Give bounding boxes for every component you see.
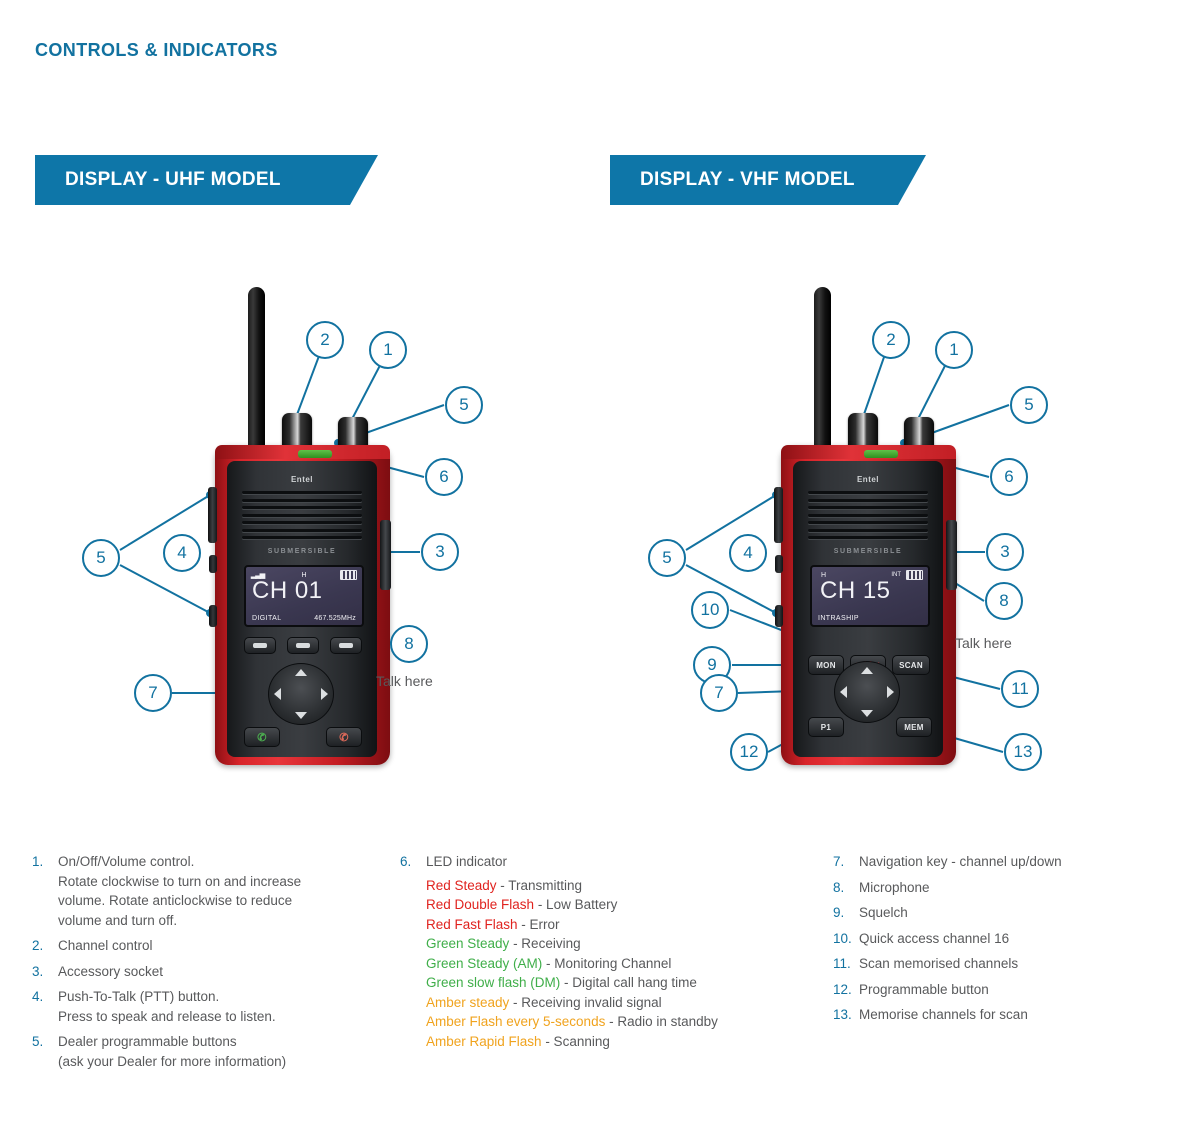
led-state-label: Amber steady <box>426 995 509 1010</box>
callout-uhf-6: 6 <box>425 458 463 496</box>
legend-item-8: 8.Microphone <box>833 878 1163 898</box>
figure-vhf-radio: Entel SUBMERSIBLE H INT CH 15 INTRASHIP … <box>600 265 1160 825</box>
vhf-antenna <box>814 287 831 457</box>
callout-uhf-8: 8 <box>390 625 428 663</box>
legend-text: LED indicator <box>426 852 800 872</box>
callout-uhf-5-right: 5 <box>445 386 483 424</box>
chevron-down-icon <box>295 712 307 719</box>
vhf-submersible-label: SUBMERSIBLE <box>793 548 943 555</box>
legend-number: 13. <box>833 1005 859 1025</box>
callout-vhf-5-left: 5 <box>648 539 686 577</box>
callout-vhf-5-right: 5 <box>1010 386 1048 424</box>
led-indicator-list: Red Steady - TransmittingRed Double Flas… <box>400 876 800 1052</box>
section-banner-uhf: DISPLAY - UHF MODEL <box>35 155 350 205</box>
led-indicator-row: Green Steady (AM) - Monitoring Channel <box>426 954 800 974</box>
callout-vhf-7: 7 <box>700 674 738 712</box>
led-indicator-row: Red Fast Flash - Error <box>426 915 800 935</box>
legend-number: 10. <box>833 929 859 949</box>
banner-label-uhf: DISPLAY - UHF MODEL <box>35 169 281 191</box>
vhf-int-label: INT <box>891 572 901 578</box>
legend-text: Accessory socket <box>58 962 362 982</box>
legend-item-6: 6. LED indicator <box>400 852 800 872</box>
led-description: - Error <box>518 917 560 932</box>
legend-number: 8. <box>833 878 859 898</box>
callout-vhf-11: 11 <box>1001 670 1039 708</box>
figure-uhf-radio: Entel SUBMERSIBLE ▂▃▅ H CH 01 DIGITAL 46… <box>20 265 540 825</box>
vhf-talk-here-label: Talk here <box>955 635 1012 651</box>
legend-line: volume and turn off. <box>58 911 362 931</box>
led-description: - Monitoring Channel <box>542 956 671 971</box>
legend-item-7: 7.Navigation key - channel up/down <box>833 852 1163 872</box>
section-banner-vhf: DISPLAY - VHF MODEL <box>610 155 898 205</box>
led-indicator-row: Red Steady - Transmitting <box>426 876 800 896</box>
uhf-mode-label: DIGITAL <box>252 615 282 622</box>
uhf-programmable-side-button-1[interactable] <box>209 555 217 573</box>
legend-line: Accessory socket <box>58 962 362 982</box>
vhf-display-screen: H INT CH 15 INTRASHIP <box>810 565 930 627</box>
callout-uhf-4: 4 <box>163 534 201 572</box>
callout-vhf-1: 1 <box>935 331 973 369</box>
legend-text: Push-To-Talk (PTT) button. Press to spea… <box>58 987 362 1026</box>
uhf-soft-key-right[interactable] <box>330 637 362 654</box>
led-description: - Radio in standby <box>605 1014 718 1029</box>
led-description: - Receiving invalid signal <box>509 995 661 1010</box>
legend-text: Programmable button <box>859 980 1163 1000</box>
battery-icon <box>906 570 923 580</box>
uhf-navigation-key[interactable] <box>268 663 334 725</box>
legend-column-2: 6. LED indicator Red Steady - Transmitti… <box>400 852 800 1051</box>
uhf-channel-number: CH 01 <box>252 579 323 603</box>
legend-item-5: 5. Dealer programmable buttons (ask your… <box>32 1032 362 1071</box>
led-indicator-row: Red Double Flash - Low Battery <box>426 895 800 915</box>
vhf-monitor-key[interactable]: MON <box>808 655 844 675</box>
led-description: - Scanning <box>542 1034 610 1049</box>
chevron-right-icon <box>887 686 894 698</box>
vhf-green-led-indicator <box>864 450 898 458</box>
page-title: CONTROLS & INDICATORS <box>35 40 278 61</box>
uhf-accessory-socket[interactable] <box>380 520 391 590</box>
legend-item-4: 4. Push-To-Talk (PTT) button. Press to s… <box>32 987 362 1026</box>
led-state-label: Red Double Flash <box>426 897 534 912</box>
led-description: - Low Battery <box>534 897 617 912</box>
legend-number: 11. <box>833 954 859 974</box>
legend-line: On/Off/Volume control. <box>58 852 362 872</box>
led-state-label: Green slow flash (DM) <box>426 975 560 990</box>
legend-number: 9. <box>833 903 859 923</box>
legend-item-13: 13.Memorise channels for scan <box>833 1005 1163 1025</box>
led-indicator-row: Green slow flash (DM) - Digital call han… <box>426 973 800 993</box>
battery-icon <box>340 570 357 580</box>
banner-tail-uhf <box>350 155 378 205</box>
led-state-label: Amber Rapid Flash <box>426 1034 542 1049</box>
led-state-label: Green Steady <box>426 936 509 951</box>
callout-vhf-10: 10 <box>691 591 729 629</box>
vhf-speaker-grille <box>808 491 928 539</box>
legend-item-12: 12.Programmable button <box>833 980 1163 1000</box>
legend-text: Memorise channels for scan <box>859 1005 1163 1025</box>
uhf-programmable-side-button-2[interactable] <box>209 605 217 627</box>
uhf-submersible-label: SUBMERSIBLE <box>227 548 377 555</box>
banner-tail-vhf <box>898 155 926 205</box>
vhf-accessory-socket[interactable] <box>946 520 957 590</box>
legend-item-1: 1. On/Off/Volume control. Rotate clockwi… <box>32 852 362 930</box>
led-indicator-row: Amber Flash every 5-seconds - Radio in s… <box>426 1012 800 1032</box>
legend-text: Microphone <box>859 878 1163 898</box>
spacer <box>833 1027 1163 1031</box>
page-root: CONTROLS & INDICATORS DISPLAY - UHF MODE… <box>0 0 1178 1122</box>
legend-column-3: 7.Navigation key - channel up/down8.Micr… <box>833 852 1163 1031</box>
uhf-call-key[interactable]: ✆ <box>244 727 280 747</box>
led-indicator-row: Amber steady - Receiving invalid signal <box>426 993 800 1013</box>
legend-number: 4. <box>32 987 58 1026</box>
uhf-hangup-key[interactable]: ✆ <box>326 727 362 747</box>
vhf-ptt-button[interactable] <box>774 487 783 543</box>
legend-item-2: 2. Channel control <box>32 936 362 956</box>
legend-item-11: 11.Scan memorised channels <box>833 954 1163 974</box>
legend-item-9: 9.Squelch <box>833 903 1163 923</box>
led-description: - Transmitting <box>497 878 583 893</box>
led-state-label: Amber Flash every 5-seconds <box>426 1014 605 1029</box>
legend-text: Squelch <box>859 903 1163 923</box>
led-indicator-row: Green Steady - Receiving <box>426 934 800 954</box>
legend-column-1: 1. On/Off/Volume control. Rotate clockwi… <box>32 852 362 1073</box>
callout-vhf-12: 12 <box>730 733 768 771</box>
callout-vhf-2: 2 <box>872 321 910 359</box>
uhf-display-screen: ▂▃▅ H CH 01 DIGITAL 467.525MHz <box>244 565 364 627</box>
legend-line: Dealer programmable buttons <box>58 1032 362 1052</box>
chevron-up-icon <box>295 669 307 676</box>
vhf-memory-key[interactable]: MEM <box>896 717 932 737</box>
led-description: - Digital call hang time <box>560 975 697 990</box>
uhf-speaker-grille <box>242 491 362 539</box>
legend-number: 7. <box>833 852 859 872</box>
chevron-right-icon <box>321 688 328 700</box>
legend-text: Navigation key - channel up/down <box>859 852 1163 872</box>
vhf-programmable-key-p1[interactable]: P1 <box>808 717 844 737</box>
legend-line: (ask your Dealer for more information) <box>58 1052 362 1072</box>
legend-number: 5. <box>32 1032 58 1071</box>
vhf-mode-label: INTRASHIP <box>818 615 859 622</box>
legend-number: 6. <box>400 852 426 872</box>
callout-vhf-13: 13 <box>1004 733 1042 771</box>
callout-uhf-3: 3 <box>421 533 459 571</box>
callout-vhf-8: 8 <box>985 582 1023 620</box>
legend-text: Channel control <box>58 936 362 956</box>
callout-vhf-4: 4 <box>729 534 767 572</box>
vhf-programmable-side-button-2[interactable] <box>775 605 783 627</box>
chevron-left-icon <box>274 688 281 700</box>
uhf-ptt-button[interactable] <box>208 487 217 543</box>
uhf-soft-key-center[interactable] <box>287 637 319 654</box>
uhf-brand-logo: Entel <box>227 475 377 484</box>
vhf-brand-logo: Entel <box>793 475 943 484</box>
legend-item-3: 3. Accessory socket <box>32 962 362 982</box>
led-state-label: Green Steady (AM) <box>426 956 542 971</box>
uhf-green-led-indicator <box>298 450 332 458</box>
legend-text: Dealer programmable buttons (ask your De… <box>58 1032 362 1071</box>
legend-line: Push-To-Talk (PTT) button. <box>58 987 362 1007</box>
legend-line: volume. Rotate anticlockwise to reduce <box>58 891 362 911</box>
chevron-left-icon <box>840 686 847 698</box>
uhf-soft-key-left[interactable] <box>244 637 276 654</box>
legend-line: Channel control <box>58 936 362 956</box>
callout-vhf-3: 3 <box>986 533 1024 571</box>
callout-uhf-7: 7 <box>134 674 172 712</box>
callout-vhf-6: 6 <box>990 458 1028 496</box>
led-description: - Receiving <box>509 936 580 951</box>
led-state-label: Red Fast Flash <box>426 917 518 932</box>
vhf-programmable-side-button-1[interactable] <box>775 555 783 573</box>
legend-text: Scan memorised channels <box>859 954 1163 974</box>
vhf-scan-key[interactable]: SCAN <box>892 655 930 675</box>
legend-number: 2. <box>32 936 58 956</box>
legend-line: Press to speak and release to listen. <box>58 1007 362 1027</box>
vhf-channel-number: CH 15 <box>820 579 891 603</box>
legend-text: On/Off/Volume control. Rotate clockwise … <box>58 852 362 930</box>
led-state-label: Red Steady <box>426 878 497 893</box>
legend-line: Rotate clockwise to turn on and increase <box>58 872 362 892</box>
legend-item-10: 10.Quick access channel 16 <box>833 929 1163 949</box>
led-indicator-row: Amber Rapid Flash - Scanning <box>426 1032 800 1052</box>
banner-label-vhf: DISPLAY - VHF MODEL <box>610 169 855 191</box>
chevron-down-icon <box>861 710 873 717</box>
uhf-frequency-label: 467.525MHz <box>314 615 356 622</box>
legend-number: 12. <box>833 980 859 1000</box>
vhf-navigation-key[interactable] <box>834 661 900 723</box>
uhf-talk-here-label: Talk here <box>376 673 433 689</box>
callout-uhf-2: 2 <box>306 321 344 359</box>
legend-text: Quick access channel 16 <box>859 929 1163 949</box>
callout-uhf-5-left: 5 <box>82 539 120 577</box>
callout-uhf-1: 1 <box>369 331 407 369</box>
legend-number: 3. <box>32 962 58 982</box>
chevron-up-icon <box>861 667 873 674</box>
legend-number: 1. <box>32 852 58 930</box>
uhf-antenna <box>248 287 265 457</box>
